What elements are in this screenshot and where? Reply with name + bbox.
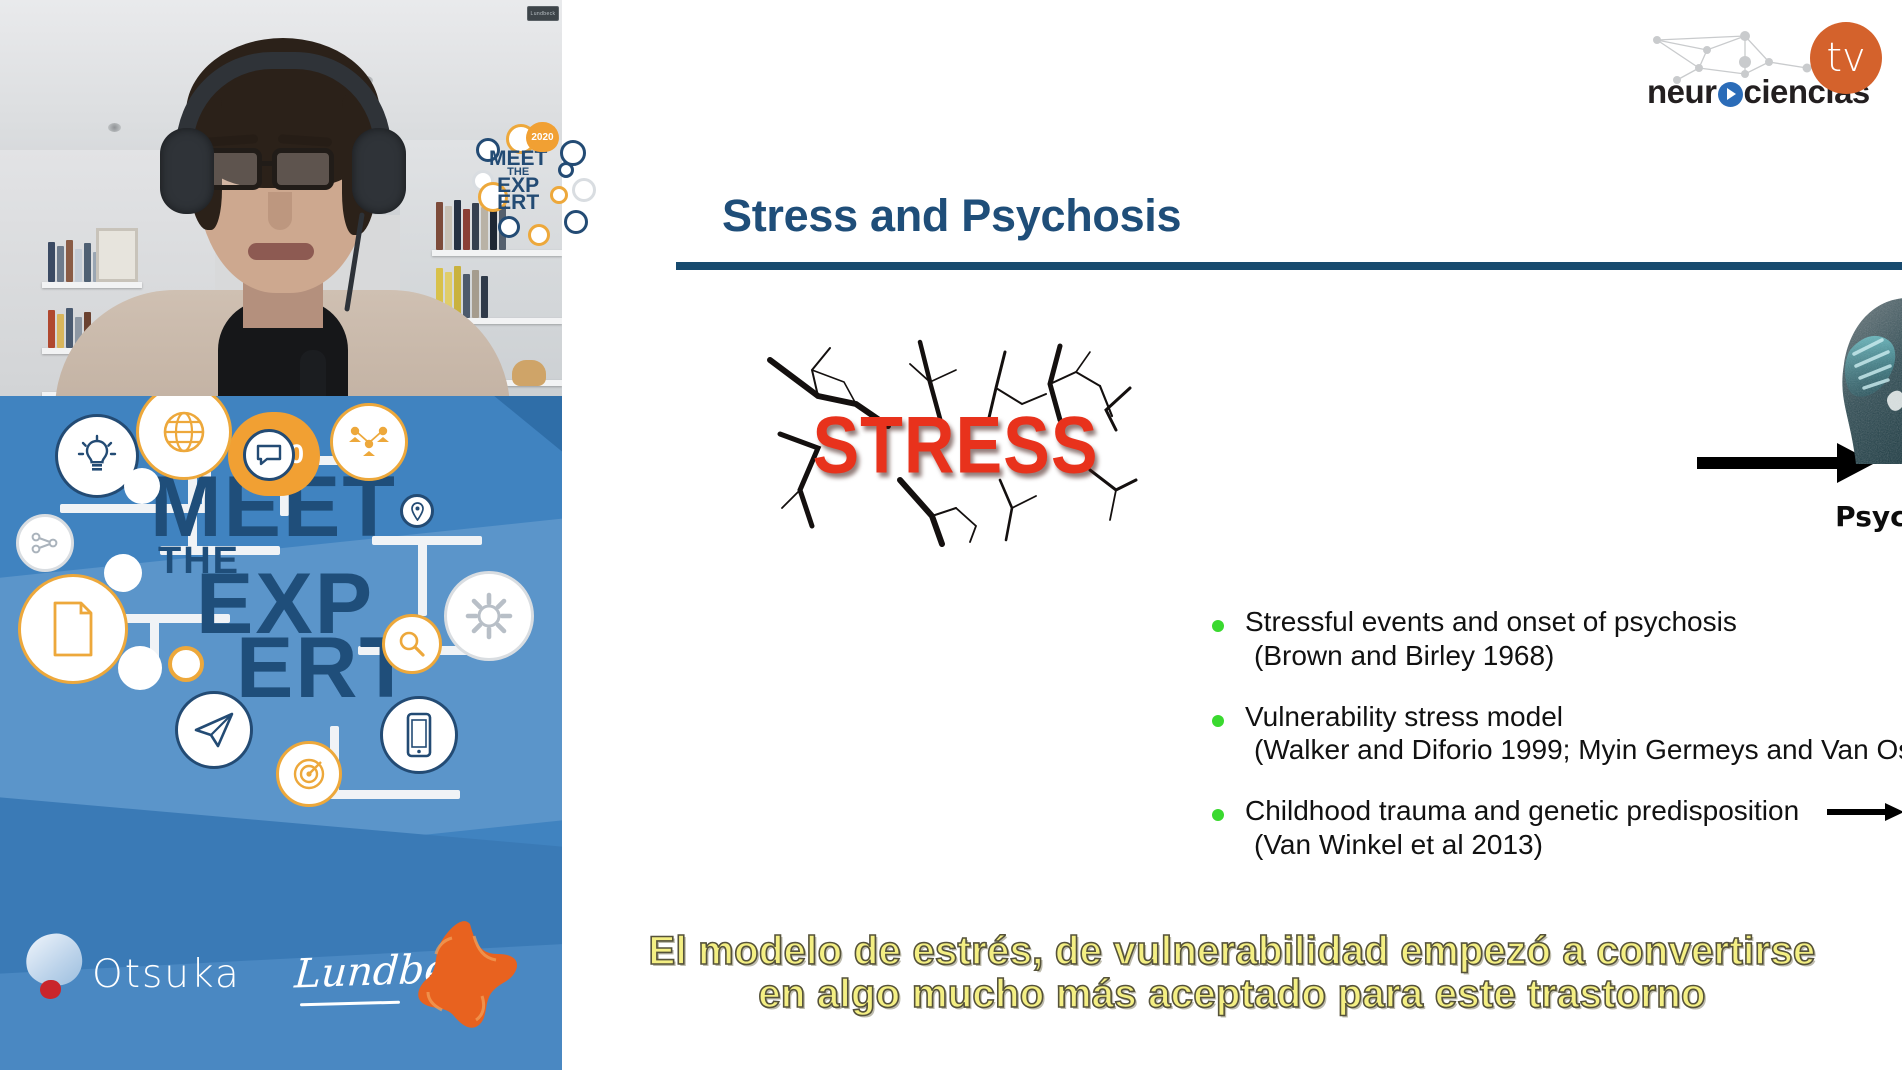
gear-icon [572, 178, 596, 202]
bullet-marker-icon [1212, 620, 1224, 632]
magnifier-icon [550, 186, 568, 204]
mark-line-1: MEET [489, 150, 547, 168]
eyeglasses-bridge [261, 161, 274, 166]
connector-line [330, 790, 460, 799]
psychosis-label: Psychosis [1777, 500, 1902, 533]
connector-line [418, 536, 427, 616]
bullet-line-primary: Stressful events and onset of psychosis [1245, 608, 1902, 637]
stress-graphic: STRESS [760, 330, 1150, 550]
gear-icon [444, 571, 534, 661]
bullet-text: Childhood trauma and genetic predisposit… [1245, 797, 1799, 826]
meet-the-expert-mark: 2020 MEET THE EXP ERT [472, 120, 602, 240]
stress-label: STRESS [788, 399, 1123, 491]
otsuka-label: Otsuka [92, 952, 241, 997]
title-divider [676, 262, 1902, 270]
document-icon [18, 574, 128, 684]
meet-the-expert-branding-panel: MEET THE EXP ERT 2020 [0, 396, 562, 1070]
speaker-nose [268, 192, 292, 230]
spanish-caption: El modelo de estrés, de vulnerabilidad e… [562, 930, 1902, 1016]
target-icon [276, 741, 342, 807]
mark-wordmark: MEET THE EXP ERT [489, 150, 547, 212]
presentation-screen: Lundbeck MEET THE [0, 0, 1902, 1070]
bullet-marker-icon [1212, 715, 1224, 727]
logo-text-left: neur [1647, 73, 1717, 111]
bullet-list: Stressful events and onset of psychosis … [1212, 608, 1902, 892]
lundbeck-underline [300, 1001, 400, 1007]
decorative-dot [118, 646, 162, 690]
mark-line-4: ERT [489, 194, 547, 212]
chat-bubble-icon [243, 429, 295, 481]
paper-plane-icon [498, 216, 520, 238]
decorative-dot [104, 554, 142, 592]
decorative-ring [168, 646, 204, 682]
target-icon [528, 224, 550, 246]
neurociencias-tv-logo: neur ciencias tv [1647, 22, 1882, 117]
bullet-line-primary: Vulnerability stress model [1245, 703, 1902, 732]
starfish-icon [412, 920, 522, 1040]
headset-earcup-left [160, 128, 214, 214]
bullet-line-citation: (Walker and Diforio 1999; Myin Germeys a… [1254, 736, 1902, 765]
microphone-icon [300, 350, 326, 396]
mark-year-badge: 2020 [526, 122, 559, 152]
bullet-marker-icon [1212, 809, 1224, 821]
right-arrow-icon [1827, 801, 1902, 823]
bullet-item: Childhood trauma and genetic predisposit… [1212, 797, 1902, 860]
otsuka-dot-icon [40, 980, 61, 999]
share-nodes-icon [16, 514, 74, 572]
people-network-icon [330, 403, 408, 481]
bullet-item: Stressful events and onset of psychosis … [1212, 608, 1902, 671]
magnifier-icon [382, 614, 442, 674]
wall-badge-label: Lundbeck [531, 11, 556, 17]
location-pin-icon [400, 494, 434, 528]
bullet-line-primary: Childhood trauma and genetic predisposit… [1245, 797, 1902, 826]
psychosis-image [1804, 288, 1902, 468]
bullet-text: Stressful events and onset of psychosis [1245, 608, 1737, 637]
bullet-line-citation: (Brown and Birley 1968) [1254, 642, 1902, 671]
caption-line-2: en algo mucho más aceptado para este tra… [562, 973, 1902, 1016]
play-circle-icon [1718, 82, 1743, 107]
decorative-dot [124, 468, 160, 504]
mobile-phone-icon [380, 696, 458, 774]
caption-line-1: El modelo de estrés, de vulnerabilidad e… [562, 930, 1902, 973]
bullet-text: Vulnerability stress model [1245, 703, 1563, 732]
eyeglasses-right-lens [272, 148, 334, 190]
background-corner-shape [482, 396, 562, 476]
wall-badge: Lundbeck [527, 6, 559, 21]
location-pin-icon [558, 162, 574, 178]
paper-plane-icon [175, 691, 253, 769]
slide-area: neur ciencias tv 2020 MEET THE EXP [562, 0, 1902, 1070]
slide-title: Stress and Psychosis [722, 190, 1181, 242]
speaker-mouth [248, 243, 314, 260]
sponsor-logos: Otsuka Lundbeck [0, 932, 562, 1042]
bullet-item: Vulnerability stress model (Walker and D… [1212, 703, 1902, 766]
headset-earcup-right [352, 128, 406, 214]
tv-badge: tv [1810, 22, 1882, 94]
bullet-line-citation: (Van Winkel et al 2013) [1254, 831, 1902, 860]
mobile-phone-icon [564, 210, 588, 234]
